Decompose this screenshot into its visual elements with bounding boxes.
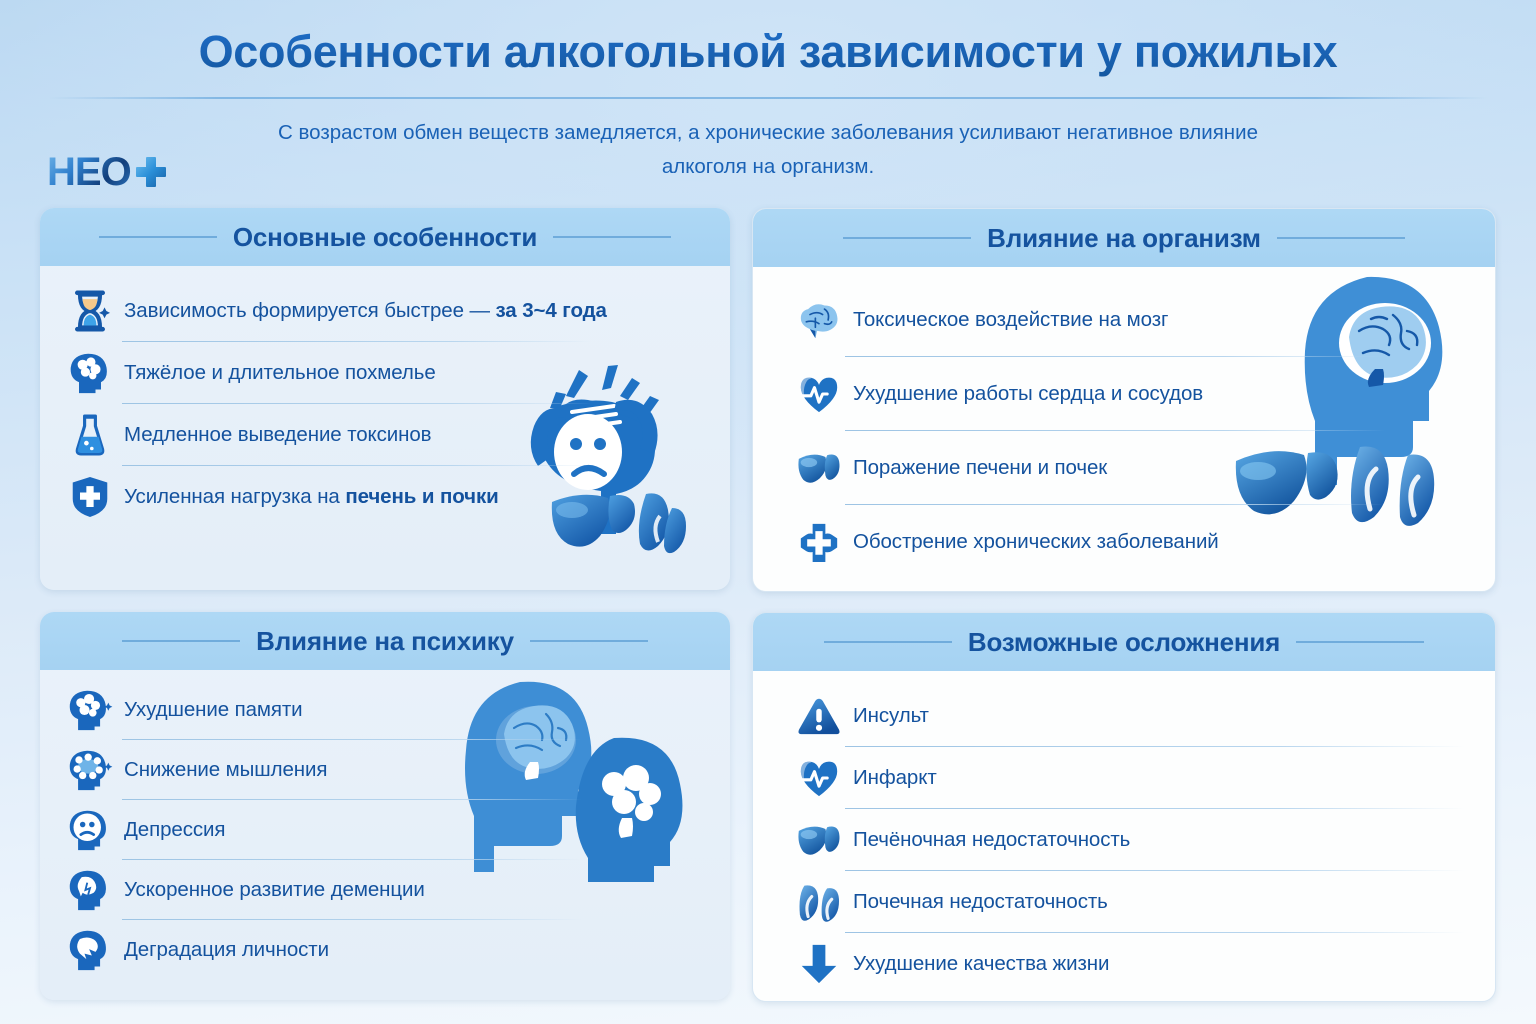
card-body-impact: Влияние на организм	[752, 208, 1496, 592]
brain-icon	[795, 296, 843, 344]
card-header: Основные особенности	[40, 208, 730, 266]
kidneys-icon	[795, 878, 843, 926]
warning-triangle-icon	[795, 692, 843, 740]
header-rule-left	[824, 641, 952, 643]
list-item[interactable]: Депрессия	[66, 800, 730, 860]
list-item[interactable]: Тяжёлое и длительное похмелье	[66, 342, 730, 404]
list-item-label: Ухудшение работы сердца и сосудов	[853, 382, 1203, 406]
list-item[interactable]: Токсическое воздействие на мозг	[795, 283, 1495, 357]
list-item-label: Обострение хронических заболеваний	[853, 530, 1219, 554]
card-title: Влияние на психику	[256, 626, 514, 657]
list-item-label: Печёночная недостаточность	[853, 828, 1130, 852]
card-complications: Возможные осложнения Инсульт	[752, 612, 1496, 1002]
list-item[interactable]: Печёночная недостаточность	[795, 809, 1495, 871]
card-title: Возможные осложнения	[968, 627, 1280, 658]
head-dementia-icon	[66, 866, 114, 914]
card-main-features: Основные особенности	[40, 208, 730, 590]
card-header: Влияние на психику	[40, 612, 730, 670]
card-title: Основные особенности	[233, 222, 537, 253]
list-item-label: Поражение печени и почек	[853, 456, 1107, 480]
header-rule-right	[1277, 237, 1405, 239]
shield-cross-icon	[66, 473, 114, 521]
list-item[interactable]: Деградация личности	[66, 920, 730, 980]
head-memory-icon	[66, 686, 114, 734]
page-header: Особенности алкогольной зависимости у по…	[0, 0, 1536, 200]
list-item[interactable]: Медленное выведение токсинов	[66, 404, 730, 466]
list-item-label: Медленное выведение токсинов	[124, 423, 431, 447]
list-item-label: Снижение мышления	[124, 758, 327, 782]
medical-cross-icon	[795, 518, 843, 566]
page-title: Особенности алкогольной зависимости у по…	[0, 26, 1536, 78]
list-item-label: Тяжёлое и длительное похмелье	[124, 361, 436, 385]
list-item-label: Ухудшение качества жизни	[853, 952, 1109, 976]
impact-list: Токсическое воздействие на мозг Ухудшени…	[795, 283, 1495, 579]
header-rule-left	[122, 640, 240, 642]
list-item-label: Инсульт	[853, 704, 929, 728]
list-item-label: Зависимость формируется быстрее — за 3~4…	[124, 299, 607, 323]
list-item-label: Ускоренное развитие деменции	[124, 878, 425, 902]
head-sad-face-icon	[66, 806, 114, 854]
plus-icon	[136, 157, 166, 187]
card-header: Влияние на организм	[753, 209, 1495, 267]
list-item-label: Депрессия	[124, 818, 225, 842]
page-subtitle: С возрастом обмен веществ замедляется, а…	[268, 116, 1268, 184]
list-item-label: Токсическое воздействие на мозг	[853, 308, 1168, 332]
header-rule-right	[553, 236, 671, 238]
header-rule-left	[843, 237, 971, 239]
list-item[interactable]: Снижение мышления	[66, 740, 730, 800]
heart-pulse-icon	[795, 754, 843, 802]
list-item-label: Деградация личности	[124, 938, 329, 962]
list-item[interactable]: Усиленная нагрузка на печень и почки	[66, 466, 730, 528]
list-item[interactable]: Ухудшение работы сердца и сосудов	[795, 357, 1495, 431]
card-psyche-impact: Влияние на психику	[40, 612, 730, 1000]
brand-logo: НЕО	[47, 150, 166, 194]
list-item[interactable]: Инсульт	[795, 685, 1495, 747]
header-rule-right	[1296, 641, 1424, 643]
list-item[interactable]: Почечная недостаточность	[795, 871, 1495, 933]
list-item[interactable]: Ускоренное развитие деменции	[66, 860, 730, 920]
list-item-label: Ухудшение памяти	[124, 698, 303, 722]
head-brain-icon	[66, 349, 114, 397]
list-item[interactable]: Инфаркт	[795, 747, 1495, 809]
head-thinking-icon	[66, 746, 114, 794]
list-item-label: Почечная недостаточность	[853, 890, 1108, 914]
list-item[interactable]: Поражение печени и почек	[795, 431, 1495, 505]
flask-icon	[66, 411, 114, 459]
list-item[interactable]: Ухудшение памяти	[66, 680, 730, 740]
heart-pulse-icon	[795, 370, 843, 418]
psyche-list: Ухудшение памяти Снижение мышления	[66, 680, 730, 980]
down-arrow-icon	[795, 940, 843, 988]
header-rule-right	[530, 640, 648, 642]
header-rule-left	[99, 236, 217, 238]
list-item-label: Инфаркт	[853, 766, 937, 790]
logo-text: НЕО	[47, 152, 131, 192]
card-header: Возможные осложнения	[753, 613, 1495, 671]
feature-list: Зависимость формируется быстрее — за 3~4…	[66, 280, 730, 528]
hourglass-icon	[66, 287, 114, 335]
head-degradation-icon	[66, 926, 114, 974]
liver-icon	[795, 816, 843, 864]
title-divider	[48, 97, 1488, 99]
liver-icon	[795, 444, 843, 492]
list-item[interactable]: Зависимость формируется быстрее — за 3~4…	[66, 280, 730, 342]
complications-list: Инсульт Инфаркт	[795, 685, 1495, 995]
list-item-label: Усиленная нагрузка на печень и почки	[124, 485, 499, 509]
list-item[interactable]: Ухудшение качества жизни	[795, 933, 1495, 995]
card-title: Влияние на организм	[987, 223, 1261, 254]
list-item[interactable]: Обострение хронических заболеваний	[795, 505, 1495, 579]
